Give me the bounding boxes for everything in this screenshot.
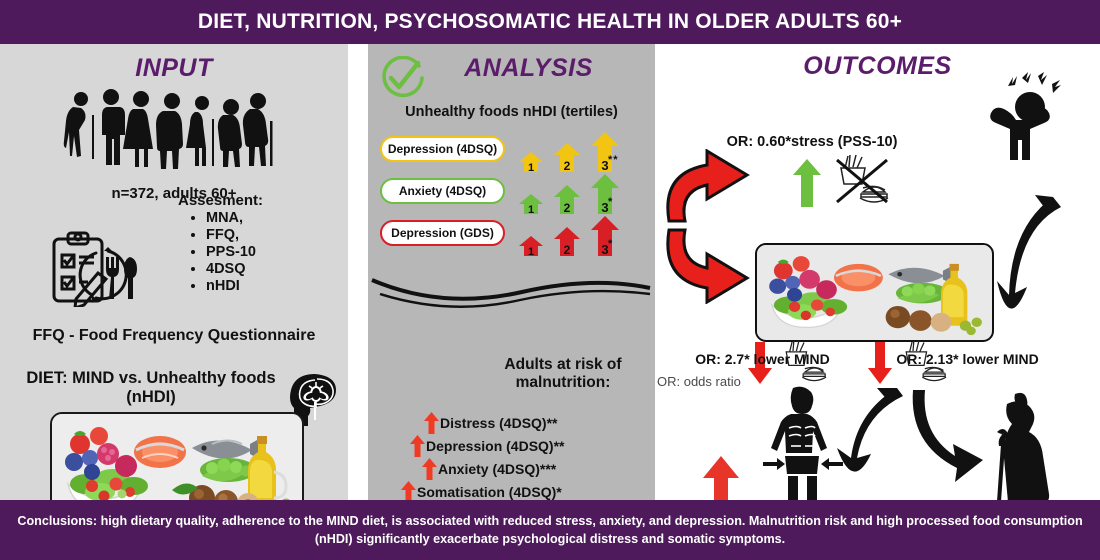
stress-person-svg bbox=[980, 72, 1080, 167]
crossed-out-junk-food-icon bbox=[833, 154, 891, 211]
or-definition-label: OR: odds ratio bbox=[657, 374, 741, 389]
underweight-person-icon bbox=[763, 384, 843, 519]
diet-caption: DIET: MIND vs. Unhealthy foods (nHDI) bbox=[26, 369, 276, 408]
finding-row: Anxiety (4DSQ)*** bbox=[422, 458, 556, 480]
assessment-item: FFQ, bbox=[206, 227, 338, 244]
assessment-list: MNA, FFQ, PPS-10 4DSQ nHDI bbox=[178, 210, 338, 296]
input-panel-title: INPUT bbox=[0, 54, 348, 83]
significance-marker: * bbox=[608, 238, 613, 250]
assessment-item: 4DSQ bbox=[206, 261, 338, 278]
conclusions-text: Conclusions: high dietary quality, adher… bbox=[0, 512, 1100, 549]
swoosh-divider-icon bbox=[370, 272, 653, 313]
poster-title: DIET, NUTRITION, PSYCHOSOMATIC HEALTH IN… bbox=[198, 10, 902, 34]
svg-text:2: 2 bbox=[564, 243, 571, 256]
assessment-heading: Assesment: bbox=[178, 192, 338, 209]
tertile-arrow-2: 2 bbox=[553, 224, 581, 256]
elderly-people-icon bbox=[0, 89, 348, 177]
or-right-label: OR: 2.13* lower MIND bbox=[860, 351, 1075, 367]
finding-row: Depression (4DSQ)** bbox=[410, 435, 564, 457]
red-up-arrow-icon bbox=[422, 458, 437, 480]
svg-text:2: 2 bbox=[564, 201, 571, 214]
conclusions-footer: Conclusions: high dietary quality, adher… bbox=[0, 500, 1100, 560]
black-curved-arrow-right-icon bbox=[995, 189, 1075, 319]
tertile-arrow-3: 3 bbox=[590, 214, 620, 256]
tertile-arrow-3: 3 bbox=[590, 172, 620, 214]
tertile-arrow-1: 1 bbox=[518, 232, 544, 256]
finding-label: Distress (4DSQ)** bbox=[440, 415, 558, 431]
or-left-label: OR: 2.7* lower MIND bbox=[655, 351, 870, 367]
people-silhouettes-svg bbox=[59, 87, 289, 177]
tertile-arrow-group: 1 2 3 bbox=[518, 130, 620, 172]
tertile-row-anxiety-4dsq: Anxiety (4DSQ) 1 2 3 * bbox=[380, 178, 505, 212]
black-curved-arrow-mid-icon bbox=[837, 384, 917, 497]
tertile-label-pill: Anxiety (4DSQ) bbox=[380, 178, 505, 204]
red-curve-top-svg bbox=[663, 149, 755, 224]
tertile-label-pill: Depression (GDS) bbox=[380, 220, 505, 246]
elderly-woman-svg bbox=[973, 390, 1065, 518]
analysis-panel-title: ANALYSIS bbox=[402, 54, 655, 83]
check-circle-svg bbox=[378, 56, 424, 102]
input-panel: INPUT bbox=[0, 44, 348, 500]
assessment-item: MNA, bbox=[206, 210, 338, 227]
significance-marker: * bbox=[608, 196, 613, 208]
tertile-arrow-group: 1 2 3 bbox=[518, 214, 620, 256]
green-up-arrow-icon bbox=[793, 159, 821, 212]
svg-text:1: 1 bbox=[528, 162, 534, 172]
green-arrow-svg bbox=[793, 159, 821, 207]
tertile-label-pill: Depression (4DSQ) bbox=[380, 136, 505, 162]
red-curved-arrow-bottom-icon bbox=[663, 226, 755, 309]
thin-person-svg bbox=[763, 384, 843, 514]
tertile-arrow-2: 2 bbox=[553, 182, 581, 214]
mind-diet-food-image bbox=[755, 243, 994, 342]
red-curved-arrow-top-icon bbox=[663, 149, 755, 229]
black-curve-mid-svg bbox=[837, 384, 917, 492]
food-illustration-svg bbox=[757, 245, 988, 336]
tertile-row-depression-4dsq: Depression (4DSQ) 1 2 3 ** bbox=[380, 136, 505, 170]
infographic-poster: DIET, NUTRITION, PSYCHOSOMATIC HEALTH IN… bbox=[0, 0, 1100, 560]
red-up-arrow-icon bbox=[410, 435, 425, 457]
finding-label: Anxiety (4DSQ)*** bbox=[438, 461, 556, 477]
finding-label: Somatisation (4DSQ)* bbox=[417, 484, 562, 500]
green-check-circle-icon bbox=[378, 56, 424, 107]
finding-label: Depression (4DSQ)** bbox=[426, 438, 564, 454]
black-curve-right-svg bbox=[995, 189, 1075, 314]
assessment-block: Assesment: MNA, FFQ, PPS-10 4DSQ nHDI bbox=[178, 192, 338, 296]
analysis-panel: ANALYSIS Unhealthy foods nHDI (tertiles)… bbox=[368, 44, 655, 500]
stressed-person-icon bbox=[980, 72, 1080, 172]
svg-text:1: 1 bbox=[528, 204, 534, 214]
finding-row: Distress (4DSQ)** bbox=[424, 412, 558, 434]
clipboard-svg bbox=[46, 229, 156, 307]
poster-header: DIET, NUTRITION, PSYCHOSOMATIC HEALTH IN… bbox=[0, 0, 1100, 44]
red-up-arrow-icon bbox=[424, 412, 439, 434]
red-curve-bottom-svg bbox=[663, 226, 755, 304]
tertiles-heading: Unhealthy foods nHDI (tertiles) bbox=[368, 104, 655, 120]
ffq-expansion-text: FFQ - Food Frequency Questionnaire bbox=[0, 327, 348, 345]
or-stress-label: OR: 0.60*stress (PSS-10) bbox=[697, 134, 927, 150]
significance-marker: ** bbox=[608, 154, 619, 166]
assessment-item: PPS-10 bbox=[206, 244, 338, 261]
malnutrition-risk-heading: Adults at risk of malnutrition: bbox=[478, 356, 648, 392]
tertile-row-depression-gds: Depression (GDS) 1 2 3 * bbox=[380, 220, 505, 254]
tertile-arrow-group: 1 2 3 bbox=[518, 172, 620, 214]
assessment-item: nHDI bbox=[206, 278, 338, 295]
outcomes-panel: OUTCOMES OR: 0.60*stress (PSS-10) bbox=[655, 44, 1100, 500]
svg-text:2: 2 bbox=[564, 159, 571, 172]
swoosh-svg bbox=[370, 272, 653, 308]
junk-food-crossed-svg bbox=[833, 154, 891, 206]
diet-assessment-clipboard-icon bbox=[46, 229, 156, 312]
tertile-arrow-2: 2 bbox=[553, 140, 581, 172]
tertile-arrow-1: 1 bbox=[518, 148, 544, 172]
svg-text:1: 1 bbox=[528, 246, 534, 256]
tertile-arrow-1: 1 bbox=[518, 190, 544, 214]
